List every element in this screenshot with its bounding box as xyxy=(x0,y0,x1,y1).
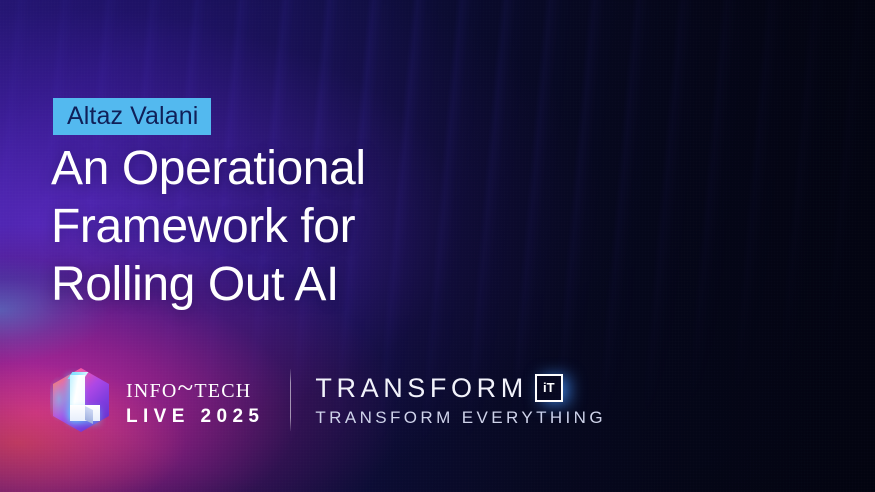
infotech-name: Info~Tech xyxy=(126,373,264,403)
title-line-1: An Operational xyxy=(51,140,551,198)
hexagon-l-logo-icon xyxy=(50,365,112,435)
brand-lockup: Info~Tech LIVE 2025 TRANSFORM iT TRANSFO… xyxy=(50,362,606,438)
presentation-title-slide: Altaz Valani An Operational Framework fo… xyxy=(0,0,875,492)
slide-title: An Operational Framework for Rolling Out… xyxy=(51,140,551,314)
it-badge-icon: iT xyxy=(535,374,563,402)
vertical-divider-icon xyxy=(290,369,291,431)
infotech-wordmark: Info~Tech LIVE 2025 xyxy=(126,373,264,427)
transform-tagline: TRANSFORM EVERYTHING xyxy=(315,409,606,427)
title-line-3: Rolling Out AI xyxy=(51,256,551,314)
infotech-event-label: LIVE 2025 xyxy=(126,407,264,427)
transform-name: TRANSFORM xyxy=(315,374,527,402)
title-line-2: Framework for xyxy=(51,198,551,256)
transform-title-row: TRANSFORM iT xyxy=(315,374,606,402)
speaker-name-badge: Altaz Valani xyxy=(53,98,211,135)
it-badge-label: iT xyxy=(543,381,555,394)
slide-content: Altaz Valani An Operational Framework fo… xyxy=(0,0,875,492)
transform-wordmark: TRANSFORM iT TRANSFORM EVERYTHING xyxy=(315,374,606,427)
